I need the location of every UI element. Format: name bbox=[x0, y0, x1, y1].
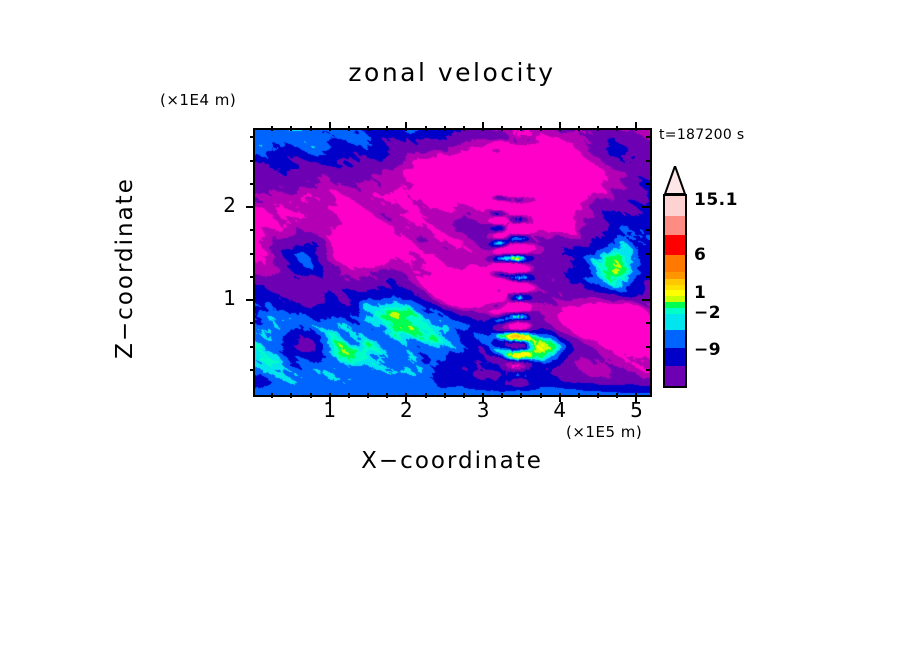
x-tick-label: 2 bbox=[386, 398, 426, 422]
colorbar-band bbox=[665, 255, 685, 272]
y-tick-major bbox=[246, 299, 255, 301]
y-axis-unit-label: (×1E4 m) bbox=[160, 91, 236, 109]
y-tick-right bbox=[646, 322, 651, 324]
colorbar-label: 1 bbox=[694, 283, 706, 303]
x-tick-top bbox=[463, 126, 465, 131]
x-tick-minor bbox=[367, 393, 369, 398]
x-tick-top bbox=[425, 126, 427, 131]
y-tick-minor bbox=[250, 136, 255, 138]
colorbar-label: 15.1 bbox=[694, 190, 738, 210]
y-tick-right bbox=[646, 276, 651, 278]
x-tick-minor bbox=[444, 393, 446, 398]
y-tick-right bbox=[642, 206, 651, 208]
x-tick-top bbox=[348, 126, 350, 131]
y-tick-label: 2 bbox=[206, 193, 236, 217]
y-tick-right bbox=[646, 253, 651, 255]
y-tick-right bbox=[646, 160, 651, 162]
x-tick-label: 3 bbox=[463, 398, 503, 422]
x-tick-top bbox=[635, 122, 637, 131]
colorbar-band bbox=[665, 216, 685, 235]
y-tick-right bbox=[646, 369, 651, 371]
x-tick-top bbox=[367, 126, 369, 131]
y-axis-title: Z−coordinate bbox=[112, 133, 138, 403]
x-tick-top bbox=[386, 126, 388, 131]
y-tick-minor bbox=[250, 322, 255, 324]
x-tick-minor bbox=[597, 393, 599, 398]
colorbar-label: −9 bbox=[694, 340, 721, 360]
x-tick-top bbox=[578, 126, 580, 131]
x-tick-top bbox=[405, 122, 407, 131]
x-tick-top bbox=[540, 126, 542, 131]
x-tick-top bbox=[520, 126, 522, 131]
y-tick-minor bbox=[250, 253, 255, 255]
colorbar-band bbox=[665, 272, 685, 279]
x-tick-top bbox=[501, 126, 503, 131]
x-tick-minor bbox=[520, 393, 522, 398]
x-axis-unit-label: (×1E5 m) bbox=[566, 423, 642, 441]
colorbar-band bbox=[665, 235, 685, 255]
x-tick-top bbox=[482, 122, 484, 131]
colorbar-label: 6 bbox=[694, 245, 706, 265]
colorbar-band bbox=[665, 196, 685, 216]
colorbar-band bbox=[665, 330, 685, 348]
y-tick-label: 1 bbox=[206, 286, 236, 310]
colorbar-band bbox=[665, 366, 685, 386]
x-tick-label: 1 bbox=[310, 398, 350, 422]
x-tick-top bbox=[597, 126, 599, 131]
velocity-field-canvas bbox=[255, 130, 650, 395]
y-tick-minor bbox=[250, 160, 255, 162]
y-tick-right bbox=[642, 299, 651, 301]
colorbar-band bbox=[665, 348, 685, 366]
y-tick-minor bbox=[250, 369, 255, 371]
page-title: zonal velocity bbox=[0, 58, 904, 87]
x-tick-minor bbox=[290, 393, 292, 398]
x-tick-minor bbox=[271, 393, 273, 398]
x-tick-top bbox=[444, 126, 446, 131]
x-tick-label: 5 bbox=[616, 398, 656, 422]
y-tick-right bbox=[646, 136, 651, 138]
colorbar bbox=[663, 194, 687, 388]
x-tick-label: 4 bbox=[540, 398, 580, 422]
y-tick-minor bbox=[250, 183, 255, 185]
y-tick-major bbox=[246, 206, 255, 208]
y-tick-right bbox=[646, 183, 651, 185]
y-tick-right bbox=[646, 229, 651, 231]
colorbar-arrow-icon bbox=[663, 166, 687, 194]
x-axis-title: X−coordinate bbox=[0, 448, 904, 474]
y-tick-minor bbox=[250, 346, 255, 348]
x-tick-top bbox=[616, 126, 618, 131]
colorbar-band bbox=[665, 314, 685, 330]
timestamp-annotation: t=187200 s bbox=[659, 127, 744, 143]
contour-plot-area bbox=[253, 128, 652, 397]
y-tick-right bbox=[646, 346, 651, 348]
x-tick-top bbox=[290, 126, 292, 131]
x-tick-top bbox=[329, 122, 331, 131]
y-tick-minor bbox=[250, 276, 255, 278]
x-tick-top bbox=[271, 126, 273, 131]
x-tick-top bbox=[310, 126, 312, 131]
colorbar-label: −2 bbox=[694, 303, 721, 323]
y-tick-minor bbox=[250, 229, 255, 231]
x-tick-top bbox=[559, 122, 561, 131]
